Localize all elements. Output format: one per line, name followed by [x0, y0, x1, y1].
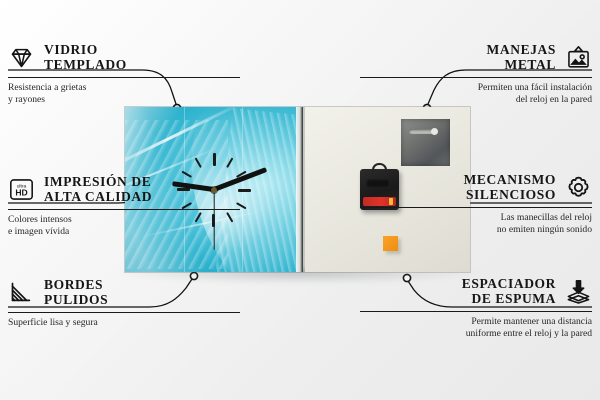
foam-spacer-icon	[565, 278, 592, 305]
feature-bordes-pulidos: BORDES PULIDOS Superficie lisa y segura	[8, 277, 240, 329]
feature-title-line1: VIDRIO	[44, 42, 98, 57]
mechanism-hanging-loop	[372, 163, 387, 172]
feature-subtitle-line1: Permite mantener una distancia	[471, 316, 592, 327]
feature-manejas-metal: MANEJAS METAL Permiten una fácil instala…	[360, 42, 592, 107]
picture-hanger-icon	[565, 44, 592, 71]
feature-subtitle-line2: e imagen vívida	[8, 226, 69, 237]
feature-title-line2: METAL	[504, 57, 556, 72]
feature-divider	[8, 77, 240, 78]
feature-title-line1: IMPRESIÓN DE	[44, 174, 151, 189]
feature-subtitle-line1: Resistencia a grietas	[8, 82, 86, 93]
feature-title-line2: ALTA CALIDAD	[44, 189, 152, 204]
feature-title-line1: MANEJAS	[487, 42, 556, 57]
diamond-icon	[8, 44, 35, 71]
feature-espaciador-espuma: ESPACIADOR DE ESPUMA Permite mantener un…	[360, 276, 592, 341]
feature-subtitle-line1: Las manecillas del reloj	[501, 212, 592, 223]
feature-impresion-alta-calidad: ultra HD IMPRESIÓN DE ALTA CALIDAD Color…	[8, 174, 240, 239]
feature-title-line2: DE ESPUMA	[471, 291, 556, 306]
polished-edges-icon	[8, 279, 35, 306]
feature-title-line1: BORDES	[44, 277, 103, 292]
feature-subtitle-line2: no emiten ningún sonido	[497, 224, 592, 235]
feature-subtitle-line1: Superficie lisa y segura	[8, 317, 98, 328]
feature-subtitle-line1: Colores intensos	[8, 214, 72, 225]
feature-title-line1: MECANISMO	[464, 172, 556, 187]
feature-title-line2: PULIDOS	[44, 292, 108, 307]
feature-divider	[360, 311, 592, 312]
foam-spacer-pad	[383, 236, 398, 251]
feature-title-line1: ESPACIADOR	[462, 276, 556, 291]
feature-divider	[8, 312, 240, 313]
feature-subtitle-line2: del reloj en la pared	[516, 94, 592, 105]
feature-subtitle-line2: y rayones	[8, 94, 45, 105]
feature-divider	[360, 207, 592, 208]
gear-icon	[565, 174, 592, 201]
metal-hanger-plate	[401, 119, 450, 166]
feature-divider	[360, 77, 592, 78]
feature-mecanismo-silencioso: MECANISMO SILENCIOSO Las manecillas del …	[360, 172, 592, 237]
feature-vidrio-templado: VIDRIO TEMPLADO Resistencia a grietas y …	[8, 42, 240, 107]
svg-text:HD: HD	[15, 187, 27, 197]
feature-title-line2: SILENCIOSO	[466, 187, 556, 202]
feature-title-line2: TEMPLADO	[44, 57, 127, 72]
feature-subtitle-line1: Permiten una fácil instalación	[478, 82, 592, 93]
infographic-canvas: VIDRIO TEMPLADO Resistencia a grietas y …	[0, 0, 600, 400]
polished-glass-edge	[296, 107, 303, 272]
feature-subtitle-line2: uniforme entre el reloj y la pared	[466, 328, 592, 339]
ultra-hd-icon: ultra HD	[8, 176, 35, 203]
feature-divider	[8, 209, 240, 210]
hanger-keyhole-slot	[409, 129, 435, 134]
